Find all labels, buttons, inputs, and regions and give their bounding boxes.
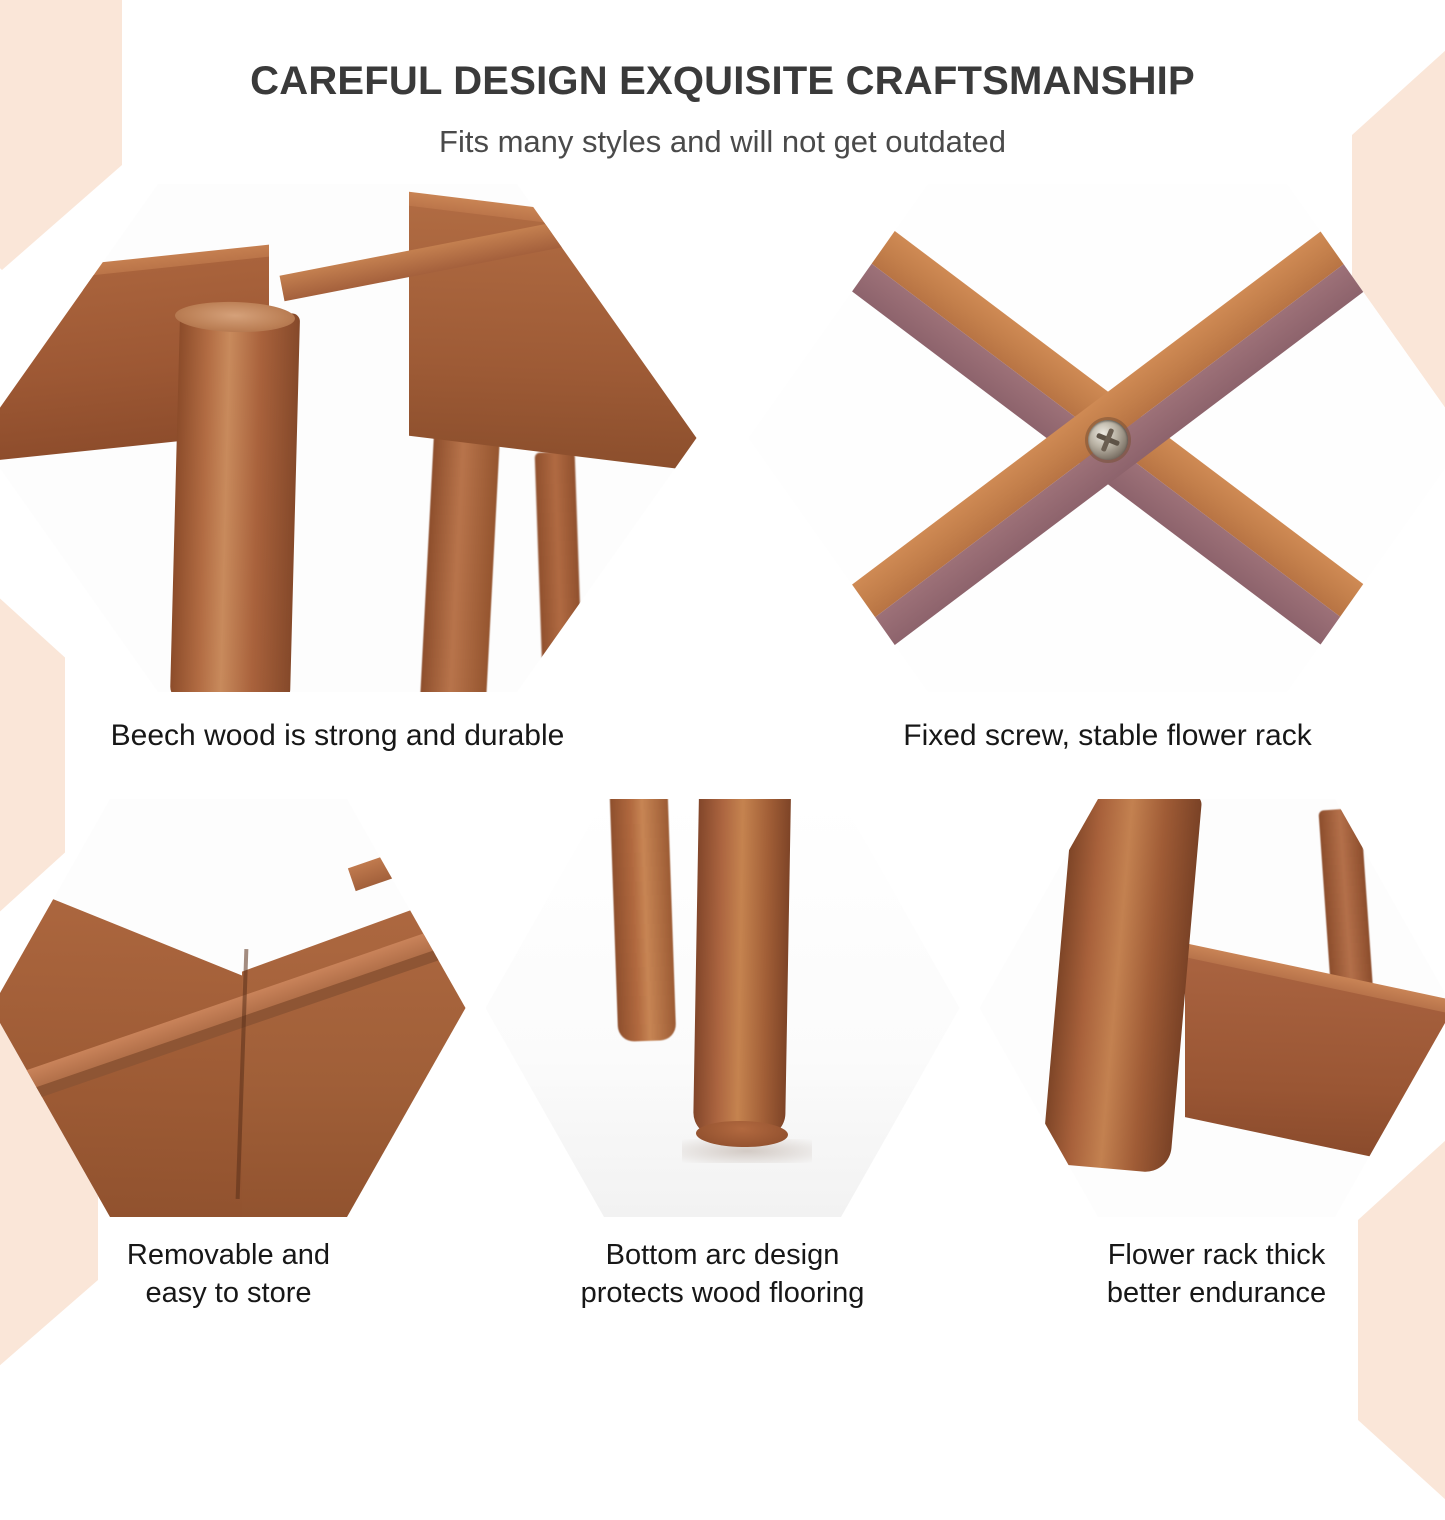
caption-line-1: Removable and [127, 1237, 330, 1275]
feature-tile-thick-rack: Flower rack thick better endurance [980, 799, 1445, 1312]
removable-cross-boards-photo [0, 799, 466, 1217]
feature-tile-beech-wood: Beech wood is strong and durable [0, 184, 697, 755]
photo-canvas-4 [486, 799, 960, 1217]
background-leg-far [420, 432, 500, 692]
fixing-screw-head [1088, 420, 1128, 460]
background-leg-far-2 [534, 451, 583, 692]
thick-rack-plank-photo [980, 799, 1445, 1217]
feature-caption: Bottom arc design protects wood flooring [581, 1237, 865, 1312]
feature-tile-bottom-arc: Bottom arc design protects wood flooring [486, 799, 960, 1312]
feature-row-bottom: Removable and easy to store Bottom arc d… [0, 799, 1445, 1312]
caption-line-2: easy to store [127, 1275, 330, 1313]
board-notch-tab [347, 847, 417, 891]
photo-canvas-1 [0, 184, 697, 692]
caption-line-1: Flower rack thick [1107, 1237, 1326, 1275]
cross-board-right [242, 862, 466, 1217]
bottom-arc-legs-photo [486, 799, 960, 1217]
feature-caption: Removable and easy to store [127, 1237, 330, 1312]
caption-line-1: Bottom arc design [581, 1237, 865, 1275]
caption-line-2: better endurance [1107, 1275, 1326, 1313]
beech-wood-leg-photo [0, 184, 697, 692]
background-rear-leg [1318, 808, 1373, 1000]
feature-caption: Beech wood is strong and durable [111, 716, 565, 755]
foreground-round-leg [169, 310, 299, 692]
front-tapered-leg [692, 799, 790, 1138]
header-block: CAREFUL DESIGN EXQUISITE CRAFTSMANSHIP F… [0, 0, 1445, 160]
page-subtitle: Fits many styles and will not get outdat… [0, 124, 1445, 160]
thick-front-leg [1041, 799, 1202, 1174]
feature-tile-removable: Removable and easy to store [0, 799, 466, 1312]
photo-canvas-2 [749, 184, 1445, 692]
page-title: CAREFUL DESIGN EXQUISITE CRAFTSMANSHIP [0, 58, 1445, 104]
feature-caption: Flower rack thick better endurance [1107, 1237, 1326, 1312]
feature-tile-fixed-screw: Fixed screw, stable flower rack [749, 184, 1445, 755]
photo-canvas-3 [0, 799, 466, 1217]
feature-caption: Fixed screw, stable flower rack [903, 716, 1311, 755]
caption-line-2: protects wood flooring [581, 1275, 865, 1313]
fixed-screw-cross-photo [749, 184, 1445, 692]
rear-tapered-leg [609, 799, 676, 1042]
feature-row-top: Beech wood is strong and durable Fixed s… [0, 184, 1445, 755]
photo-canvas-5 [980, 799, 1445, 1217]
